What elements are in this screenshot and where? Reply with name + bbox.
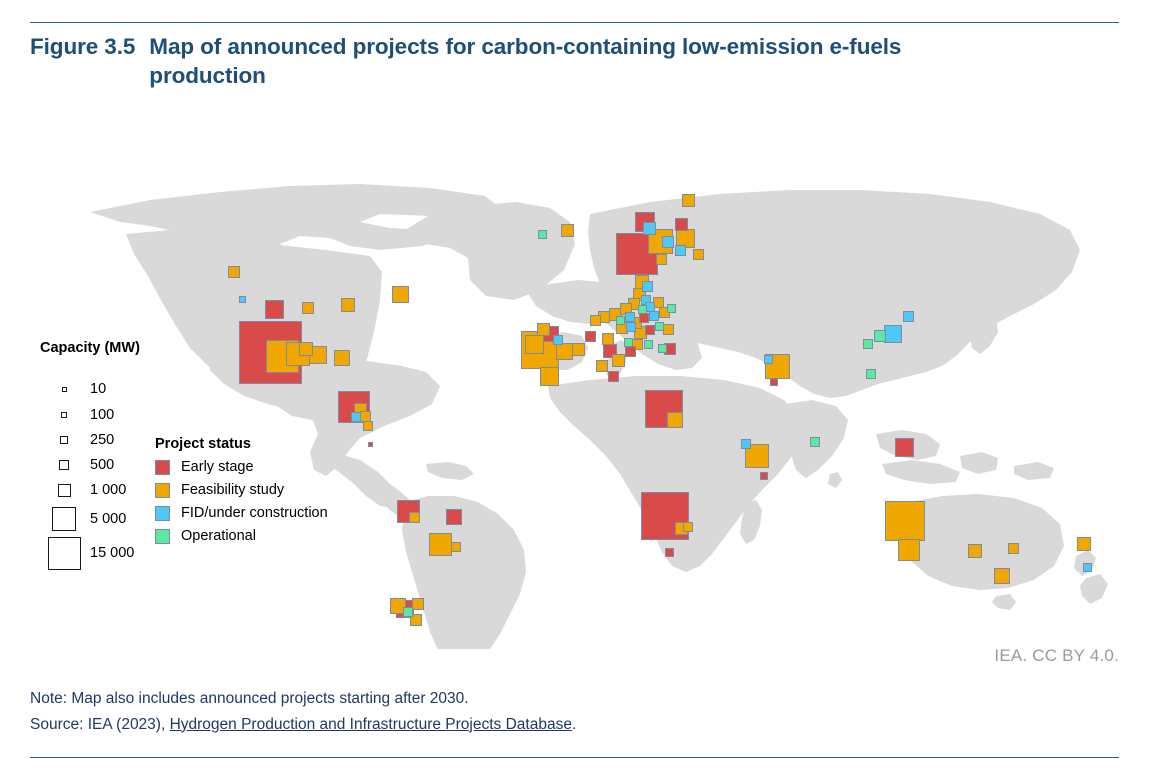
project-marker[interactable]	[1008, 543, 1019, 554]
project-marker[interactable]	[810, 437, 820, 447]
project-marker[interactable]	[903, 311, 914, 322]
source-suffix: .	[572, 716, 576, 733]
project-marker[interactable]	[649, 311, 659, 321]
project-marker[interactable]	[760, 472, 768, 480]
capacity-swatch	[52, 507, 76, 531]
project-marker[interactable]	[626, 322, 636, 332]
capacity-swatch	[61, 412, 67, 418]
project-marker[interactable]	[866, 369, 876, 379]
project-marker[interactable]	[683, 522, 693, 532]
project-marker[interactable]	[645, 325, 655, 335]
project-marker[interactable]	[590, 315, 601, 326]
project-marker[interactable]	[525, 335, 544, 354]
project-marker[interactable]	[412, 598, 424, 610]
project-marker[interactable]	[655, 322, 664, 331]
project-marker[interactable]	[639, 313, 649, 323]
project-marker[interactable]	[608, 371, 619, 382]
capacity-label: 15 000	[90, 545, 134, 561]
project-marker[interactable]	[994, 568, 1010, 584]
project-marker[interactable]	[602, 333, 614, 345]
capacity-label: 10	[90, 381, 106, 397]
project-marker[interactable]	[596, 360, 608, 372]
capacity-swatch-cell	[38, 507, 90, 531]
capacity-label: 250	[90, 432, 114, 448]
capacity-swatch-cell	[38, 537, 90, 570]
source-line: Source: IEA (2023), Hydrogen Production …	[30, 712, 1090, 738]
source-prefix: Source: IEA (2023),	[30, 716, 170, 733]
status-legend-row[interactable]: Operational	[155, 528, 375, 544]
project-marker[interactable]	[538, 230, 547, 239]
project-marker[interactable]	[644, 340, 653, 349]
capacity-swatch-cell	[38, 484, 90, 497]
figure-label: Figure 3.5	[30, 33, 135, 62]
capacity-label: 5 000	[90, 511, 126, 527]
project-marker[interactable]	[228, 266, 240, 278]
capacity-label: 1 000	[90, 482, 126, 498]
figure-page: Figure 3.5 Map of announced projects for…	[0, 0, 1149, 778]
project-marker[interactable]	[741, 439, 751, 449]
capacity-label: 100	[90, 407, 114, 423]
project-marker[interactable]	[625, 346, 636, 357]
project-marker[interactable]	[624, 338, 633, 347]
status-legend-row[interactable]: Early stage	[155, 459, 375, 475]
project-marker[interactable]	[409, 512, 420, 523]
bottom-rule	[30, 757, 1119, 758]
project-marker[interactable]	[874, 330, 886, 342]
project-marker[interactable]	[351, 412, 361, 422]
project-marker[interactable]	[553, 335, 563, 345]
project-marker[interactable]	[451, 542, 461, 552]
project-marker[interactable]	[403, 607, 413, 617]
project-marker[interactable]	[1083, 563, 1092, 572]
project-marker[interactable]	[612, 354, 625, 367]
project-marker[interactable]	[625, 312, 635, 322]
project-marker[interactable]	[572, 343, 585, 356]
project-marker[interactable]	[884, 325, 902, 343]
project-marker[interactable]	[770, 378, 778, 386]
project-marker[interactable]	[334, 350, 350, 366]
capacity-swatch-cell	[38, 387, 90, 392]
land-masses	[90, 184, 1108, 649]
project-marker[interactable]	[667, 304, 676, 313]
capacity-swatch	[60, 436, 68, 444]
project-marker[interactable]	[360, 411, 371, 422]
project-marker[interactable]	[429, 533, 452, 556]
project-marker[interactable]	[658, 344, 667, 353]
project-marker[interactable]	[616, 316, 625, 325]
project-marker[interactable]	[643, 222, 656, 235]
project-marker[interactable]	[968, 544, 982, 558]
capacity-swatch-cell	[38, 460, 90, 470]
page-title: Map of announced projects for carbon-con…	[149, 33, 1009, 91]
project-marker[interactable]	[1077, 537, 1091, 551]
status-legend-rows: Early stageFeasibility studyFID/under co…	[155, 459, 375, 544]
project-marker[interactable]	[642, 281, 653, 292]
project-marker[interactable]	[764, 355, 773, 364]
project-marker[interactable]	[363, 421, 373, 431]
status-legend-title: Project status	[155, 436, 375, 452]
project-marker[interactable]	[663, 324, 674, 335]
status-legend-row[interactable]: FID/under construction	[155, 505, 375, 521]
footnotes: Note: Map also includes announced projec…	[30, 686, 1090, 737]
project-marker[interactable]	[675, 218, 688, 231]
status-label: Feasibility study	[181, 482, 284, 498]
project-marker[interactable]	[662, 236, 674, 248]
capacity-swatch-cell	[38, 436, 90, 444]
capacity-swatch	[62, 387, 67, 392]
status-swatch-fid	[155, 506, 170, 521]
project-marker[interactable]	[239, 296, 246, 303]
project-marker[interactable]	[863, 339, 873, 349]
project-marker[interactable]	[895, 438, 914, 457]
capacity-swatch	[59, 460, 69, 470]
project-marker[interactable]	[299, 342, 313, 356]
project-marker[interactable]	[341, 298, 355, 312]
status-swatch-feasibility	[155, 483, 170, 498]
project-marker[interactable]	[446, 509, 462, 525]
status-swatch-operational	[155, 529, 170, 544]
project-marker[interactable]	[265, 300, 284, 319]
capacity-label: 500	[90, 457, 114, 473]
project-marker[interactable]	[392, 286, 409, 303]
status-legend-row[interactable]: Feasibility study	[155, 482, 375, 498]
project-marker[interactable]	[656, 254, 667, 265]
project-marker[interactable]	[585, 331, 596, 342]
iea-credit: IEA. CC BY 4.0.	[994, 646, 1119, 666]
project-marker[interactable]	[638, 305, 647, 314]
status-legend: Project status Early stageFeasibility st…	[155, 436, 375, 551]
project-marker[interactable]	[665, 548, 674, 557]
capacity-swatch	[58, 484, 71, 497]
project-marker[interactable]	[540, 367, 559, 386]
project-marker[interactable]	[675, 245, 686, 256]
top-rule	[30, 22, 1119, 23]
project-marker[interactable]	[537, 323, 550, 336]
project-marker[interactable]	[302, 302, 314, 314]
world-map-svg	[30, 104, 1119, 649]
status-label: FID/under construction	[181, 505, 328, 521]
project-marker[interactable]	[682, 194, 695, 207]
note-line: Note: Map also includes announced projec…	[30, 686, 1090, 712]
project-marker[interactable]	[556, 343, 573, 360]
figure-title-block: Figure 3.5 Map of announced projects for…	[30, 33, 1090, 91]
source-database-link[interactable]: Hydrogen Production and Infrastructure P…	[170, 716, 572, 733]
project-marker[interactable]	[693, 249, 704, 260]
status-swatch-early	[155, 460, 170, 475]
status-label: Operational	[181, 528, 256, 544]
capacity-swatch-cell	[38, 412, 90, 418]
capacity-legend-title: Capacity (MW)	[40, 340, 188, 356]
project-marker[interactable]	[667, 412, 683, 428]
status-label: Early stage	[181, 459, 254, 475]
world-map[interactable]	[30, 104, 1119, 649]
capacity-swatch	[48, 537, 81, 570]
project-marker[interactable]	[898, 539, 920, 561]
project-marker[interactable]	[561, 224, 574, 237]
project-marker[interactable]	[885, 501, 925, 541]
